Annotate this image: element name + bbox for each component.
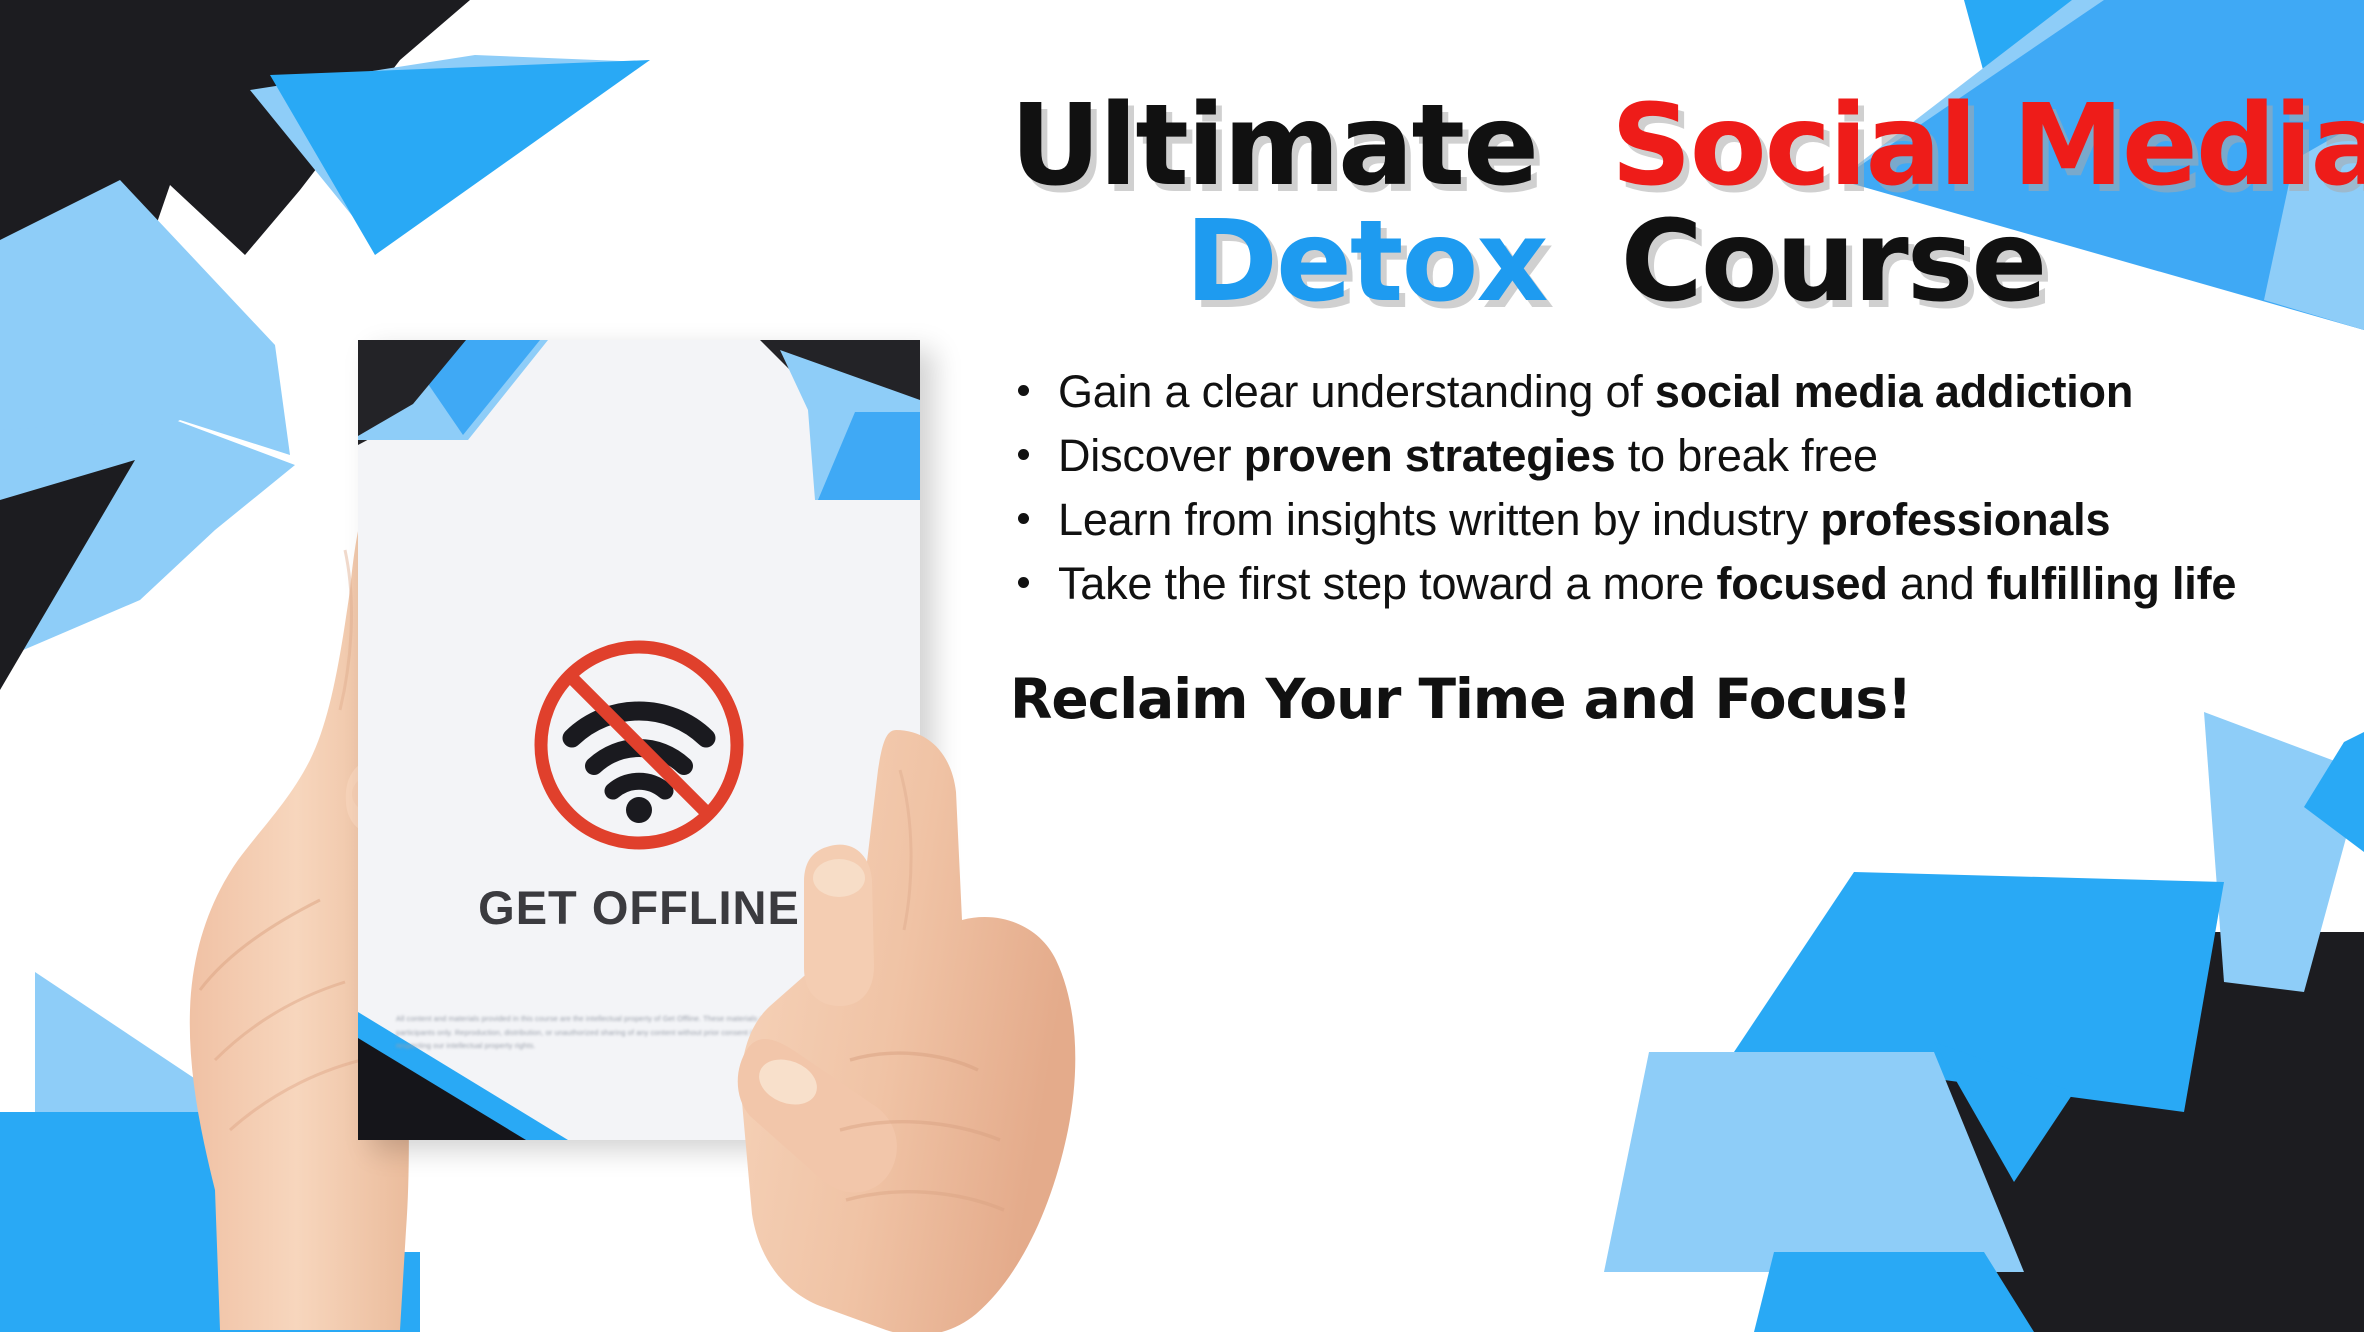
poster-canvas: GET OFFLINE All content and materials pr… bbox=[0, 0, 2364, 1332]
bullet-text-pre: Discover bbox=[1058, 430, 1244, 481]
bullet-dot-icon bbox=[1018, 513, 1029, 524]
bullet-text-pre: Take the first step toward a more bbox=[1058, 558, 1717, 609]
bullet-text-pre: Gain a clear understanding of bbox=[1058, 366, 1655, 417]
decor-bottom-right bbox=[1604, 712, 2364, 1332]
bullet-text-pre: Learn from insights written by industry bbox=[1058, 494, 1820, 545]
list-item: Gain a clear understanding of social med… bbox=[1010, 362, 2300, 422]
hands-holding-poster-photo: GET OFFLINE All content and materials pr… bbox=[160, 300, 1060, 1332]
bullet-text-strong: social media addiction bbox=[1655, 366, 2133, 417]
title-word-ultimate: Ultimate bbox=[1010, 81, 1537, 211]
list-item: Discover proven strategies to break free bbox=[1010, 426, 2300, 486]
list-item: Take the first step toward a more focuse… bbox=[1010, 554, 2300, 614]
bullet-dot-icon bbox=[1018, 449, 1029, 460]
content-column: Ultimate Social Media Detox Course Gain … bbox=[1010, 90, 2300, 731]
bullet-dot-icon bbox=[1018, 385, 1029, 396]
title-word-detox: Detox bbox=[1185, 197, 1547, 327]
page-title: Ultimate Social Media bbox=[1010, 90, 2300, 202]
bullet-text-strong: professionals bbox=[1820, 494, 2110, 545]
page-title-line2: Detox Course bbox=[1010, 206, 2300, 318]
poster-decor-top-right bbox=[760, 340, 920, 500]
benefits-list: Gain a clear understanding of social med… bbox=[1010, 362, 2300, 613]
bullet-dot-icon bbox=[1018, 577, 1029, 588]
closing-tagline: Reclaim Your Time and Focus! bbox=[1010, 667, 2300, 731]
right-hand bbox=[700, 730, 1120, 1332]
title-word-social-media: Social Media bbox=[1611, 81, 2364, 211]
list-item: Learn from insights written by industry … bbox=[1010, 490, 2300, 550]
title-word-course: Course bbox=[1621, 197, 2046, 327]
bullet-text-strong2: fulfilling life bbox=[1987, 558, 2236, 609]
bullet-text-post: to break free bbox=[1616, 430, 1878, 481]
poster-decor-top-left bbox=[358, 340, 548, 470]
bullet-text-post: and bbox=[1888, 558, 1987, 609]
bullet-text-strong: focused bbox=[1717, 558, 1888, 609]
bullet-text-strong: proven strategies bbox=[1244, 430, 1616, 481]
